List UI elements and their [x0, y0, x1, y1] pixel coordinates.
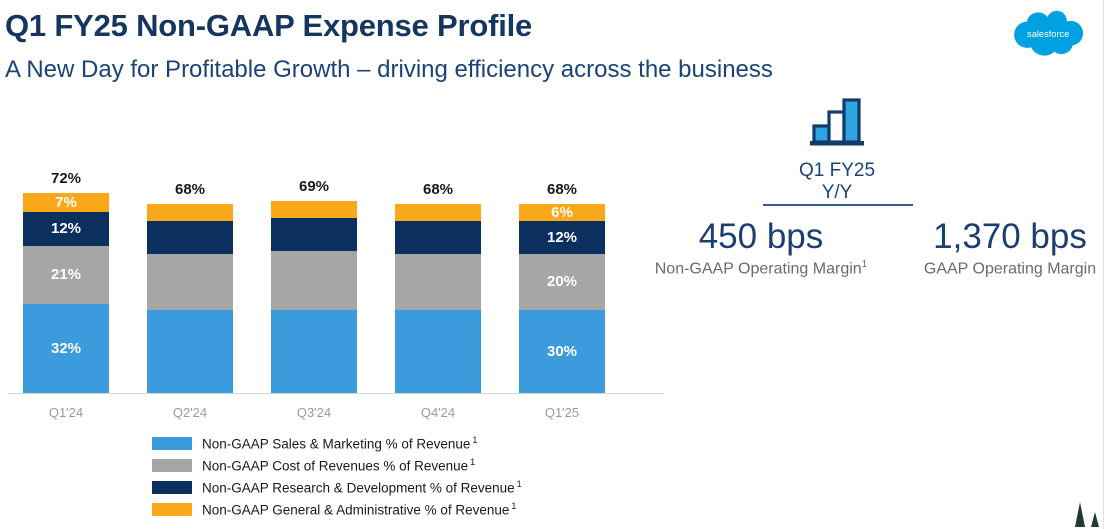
bar-segment-ga[interactable]: 6%: [519, 204, 605, 221]
bar-segment-cor[interactable]: [271, 251, 357, 309]
legend-label: Non-GAAP Sales & Marketing % of Revenue1: [202, 435, 477, 452]
cloud-icon: salesforce: [1010, 10, 1088, 58]
page-title: Q1 FY25 Non-GAAP Expense Profile: [5, 8, 532, 44]
legend-swatch: [152, 481, 192, 494]
bar-segment-label: 6%: [551, 205, 573, 220]
stat-label-text: Non-GAAP Operating Margin: [655, 260, 862, 277]
bar-segment-cor[interactable]: [147, 254, 233, 310]
bar-segment-label: 12%: [51, 221, 81, 236]
bar-segment-ga[interactable]: [147, 204, 233, 221]
bar-segment-cor[interactable]: 20%: [519, 254, 605, 310]
kpi-heading-line1: Q1 FY25: [745, 160, 929, 182]
bar-total-label: 68%: [395, 181, 481, 198]
legend-swatch: [152, 437, 192, 450]
bar-segment-sm[interactable]: [271, 310, 357, 393]
kpi-heading-line2: Y/Y: [745, 182, 929, 204]
bar-segment-label: 30%: [547, 344, 577, 359]
legend-swatch: [152, 459, 192, 472]
bar-segment-cor[interactable]: 21%: [23, 246, 109, 304]
legend-item[interactable]: Non-GAAP General & Administrative % of R…: [152, 498, 522, 520]
bar-segment-label: 7%: [55, 195, 77, 210]
category-label: Q4'24: [395, 405, 481, 420]
kpi-divider-rule: [763, 204, 913, 206]
legend-footnote: 1: [515, 479, 522, 489]
bar-total-label: 72%: [23, 170, 109, 187]
bar-segment-sm[interactable]: 30%: [519, 310, 605, 393]
bar-stack: [395, 204, 481, 393]
bar-total-label: 69%: [271, 178, 357, 195]
bar-segment-sm[interactable]: [395, 310, 481, 393]
bar-segment-sm[interactable]: [147, 310, 233, 393]
stat-value: 1,370 bps: [906, 218, 1114, 257]
legend-item[interactable]: Non-GAAP Cost of Revenues % of Revenue1: [152, 454, 522, 476]
stat-gaap-operating-margin: 1,370 bps GAAP Operating Margin: [906, 218, 1114, 278]
stat-label-text: GAAP Operating Margin: [924, 260, 1096, 277]
legend-footnote: 1: [468, 457, 475, 467]
bar-stack: [147, 204, 233, 393]
bar-segment-ga[interactable]: [395, 204, 481, 221]
corner-decoration: [1068, 500, 1104, 529]
legend-label: Non-GAAP Cost of Revenues % of Revenue1: [202, 457, 475, 474]
bar-segment-ga[interactable]: 7%: [23, 193, 109, 212]
bar-segment-label: 32%: [51, 341, 81, 356]
category-label: Q1'25: [519, 405, 605, 420]
stat-label: GAAP Operating Margin: [906, 259, 1114, 278]
legend-footnote: 1: [470, 435, 477, 445]
bar-segment-rd[interactable]: 12%: [519, 221, 605, 254]
bar-segment-label: 12%: [547, 230, 577, 245]
bar-segment-cor[interactable]: [395, 254, 481, 310]
slide-canvas: Q1 FY25 Non-GAAP Expense Profile A New D…: [0, 0, 1115, 529]
stat-label: Non-GAAP Operating Margin1: [628, 259, 894, 278]
bar-segment-rd[interactable]: [395, 221, 481, 254]
bar-total-label: 68%: [147, 181, 233, 198]
legend-label: Non-GAAP Research & Development % of Rev…: [202, 479, 522, 496]
chart-x-axis: [8, 393, 663, 394]
page-subtitle: A New Day for Profitable Growth – drivin…: [5, 56, 773, 84]
salesforce-cloud-logo: salesforce: [1010, 10, 1088, 58]
bar-stack: [271, 201, 357, 393]
legend-item[interactable]: Non-GAAP Research & Development % of Rev…: [152, 476, 522, 498]
bar-stack: 7%12%21%32%: [23, 193, 109, 393]
bar-chart-icon: [808, 96, 870, 148]
category-label: Q3'24: [271, 405, 357, 420]
stat-non-gaap-operating-margin: 450 bps Non-GAAP Operating Margin1: [628, 218, 894, 278]
legend-label: Non-GAAP General & Administrative % of R…: [202, 501, 516, 518]
legend-swatch: [152, 503, 192, 516]
kpi-heading: Q1 FY25 Y/Y: [745, 160, 929, 204]
stat-value: 450 bps: [628, 218, 894, 257]
bar-stack: 6%12%20%30%: [519, 204, 605, 393]
bar-segment-rd[interactable]: [147, 221, 233, 254]
legend-item[interactable]: Non-GAAP Sales & Marketing % of Revenue1: [152, 432, 522, 454]
category-label: Q2'24: [147, 405, 233, 420]
bar-segment-label: 20%: [547, 274, 577, 289]
bar-total-label: 68%: [519, 181, 605, 198]
bar-segment-sm[interactable]: 32%: [23, 304, 109, 393]
stat-footnote: 1: [862, 259, 868, 270]
chart-legend: Non-GAAP Sales & Marketing % of Revenue1…: [152, 432, 522, 520]
legend-footnote: 1: [509, 501, 516, 511]
bar-segment-rd[interactable]: 12%: [23, 212, 109, 245]
bar-segment-label: 21%: [51, 267, 81, 282]
bar-segment-ga[interactable]: [271, 201, 357, 218]
stacked-bar-chart: 72%7%12%21%32%Q1'2468%Q2'2469%Q3'2468%Q4…: [0, 150, 680, 410]
salesforce-wordmark: salesforce: [1027, 29, 1069, 39]
bar-segment-rd[interactable]: [271, 218, 357, 251]
category-label: Q1'24: [23, 405, 109, 420]
